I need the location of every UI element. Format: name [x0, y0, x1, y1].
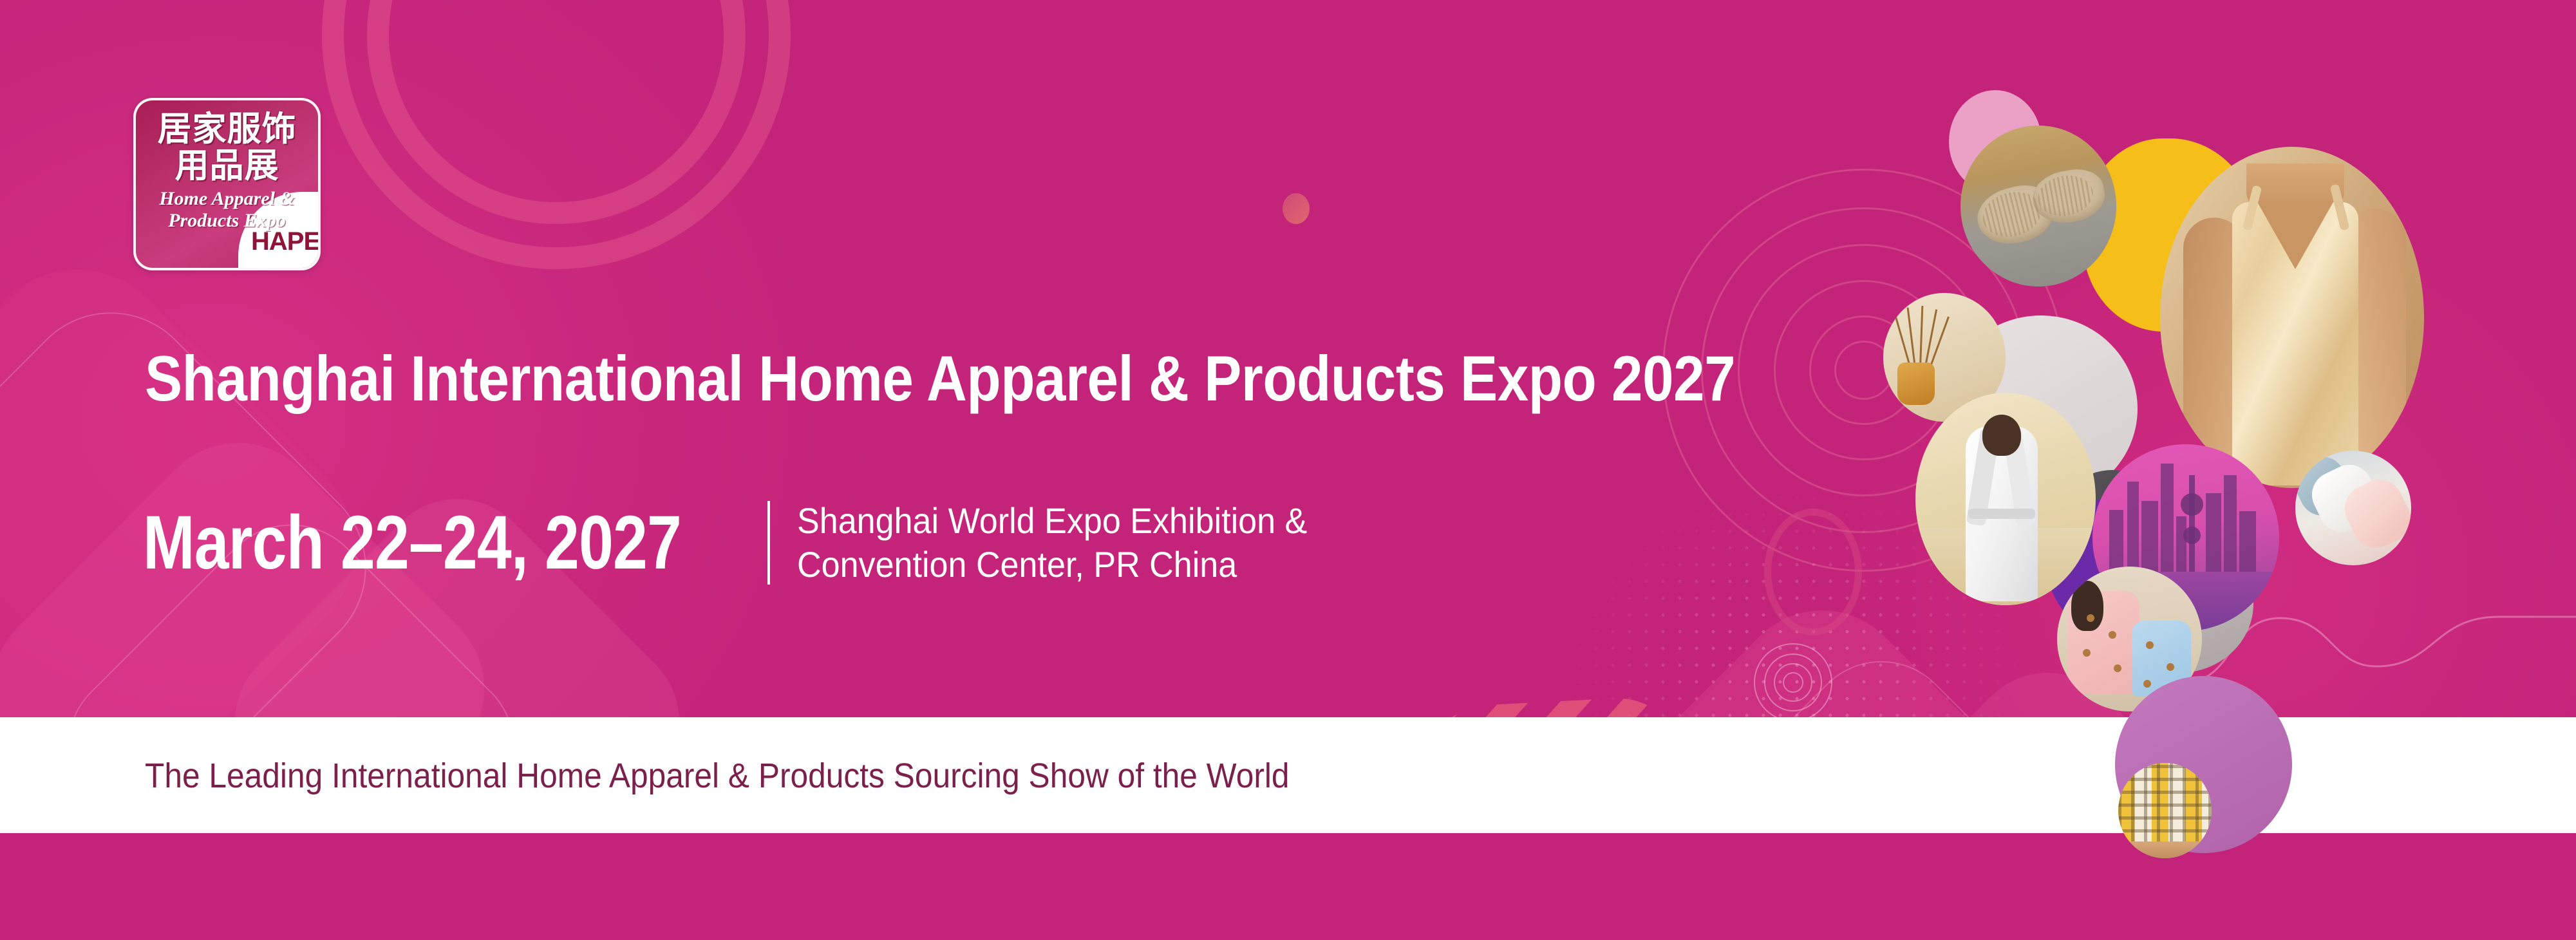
halftone-core-rings [1754, 644, 1832, 721]
logo-english-line2: Products Expo [136, 210, 318, 232]
event-tagline: The Leading International Home Apparel &… [145, 758, 1290, 793]
expo-banner: 居家服饰 用品展 Home Apparel & Products Expo HA… [0, 0, 2576, 940]
photo-rolled-towels [2295, 451, 2411, 565]
photo-plaid-pajama-shorts-overlay [2118, 763, 2212, 858]
venue-line-1: Shanghai World Expo Exhibition & [797, 499, 1307, 543]
thin-ring-outline [1764, 509, 1862, 635]
photo-slippers [1960, 126, 2116, 287]
photo-silk-slip-dress [2160, 147, 2424, 488]
logo-chinese-text: 居家服饰 用品展 [136, 100, 318, 184]
logo-chinese-line2: 用品展 [136, 147, 318, 184]
event-venue: Shanghai World Expo Exhibition & Convent… [797, 499, 1307, 587]
logo-english-text: Home Apparel & Products Expo [136, 188, 318, 231]
logo-english-line1: Home Apparel & [136, 188, 318, 210]
logo-hape-label: HAPE [251, 227, 320, 256]
vertical-divider [767, 501, 770, 585]
date-and-venue: March 22–24, 2027 Shanghai World Expo Ex… [143, 499, 1345, 587]
hape-logo[interactable]: 居家服饰 用品展 Home Apparel & Products Expo HA… [133, 98, 321, 270]
salmon-dot [1283, 193, 1310, 224]
logo-chinese-line1: 居家服饰 [136, 111, 318, 147]
event-date: March 22–24, 2027 [143, 505, 681, 581]
venue-line-2: Convention Center, PR China [797, 543, 1307, 587]
event-title: Shanghai International Home Apparel & Pr… [145, 346, 1735, 410]
